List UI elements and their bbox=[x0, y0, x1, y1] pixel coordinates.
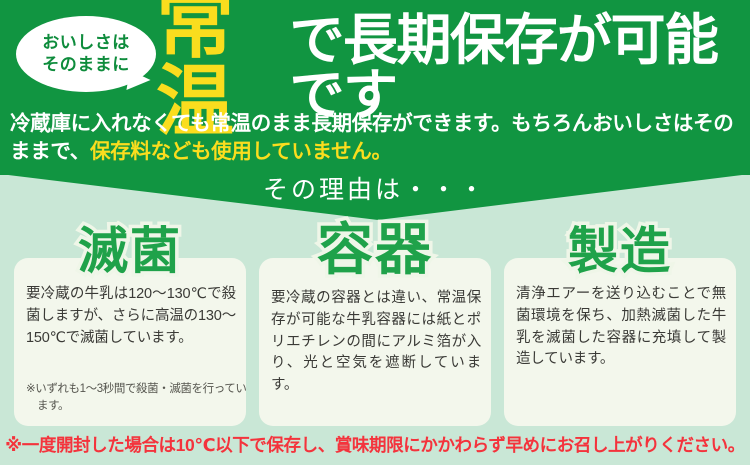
lead-paragraph: 冷蔵庫に入れなくても常温のまま長期保存ができます。もちろんおいしさはそのままで、… bbox=[10, 110, 742, 167]
speech-bubble-tail bbox=[126, 70, 151, 94]
card-heading: 製造 bbox=[504, 226, 736, 276]
reason-card-sterilization: 滅菌 要冷蔵の牛乳は120〜130℃で殺菌しますが、さらに高温の130〜150℃… bbox=[14, 258, 246, 426]
reason-label: その理由は・・・ bbox=[0, 170, 750, 206]
lead-paragraph-highlight: 保存料なども使用していません。 bbox=[90, 140, 392, 163]
headline-rest-text: で長期保存が可能です bbox=[290, 13, 750, 123]
promo-poster: おいしさは そのままに 常温 で長期保存が可能です 冷蔵庫に入れなくても常温のま… bbox=[0, 0, 750, 465]
card-body-text: 要冷蔵の牛乳は120〜130℃で殺菌しますが、さらに高温の130〜150℃で滅菌… bbox=[26, 284, 236, 349]
card-heading: 容器 bbox=[259, 222, 491, 278]
headline: 常温 で長期保存が可能です bbox=[156, 14, 750, 110]
card-body-text: 要冷蔵の容器とは違い、常温保存が可能な牛乳容器には紙とポリエチレンの間にアルミ箔… bbox=[271, 288, 481, 397]
reason-card-manufacturing: 製造 清浄エアーを送り込むことで無菌環境を保ち、加熱滅菌した牛乳を滅菌した容器に… bbox=[504, 258, 736, 426]
card-note-text: ※いずれも1〜3秒間で殺菌・滅菌を行っています。 bbox=[26, 381, 251, 414]
card-heading: 滅菌 bbox=[14, 226, 246, 276]
tagline-line-1: おいしさは bbox=[42, 32, 130, 54]
card-body-text: 清浄エアーを送り込むことで無菌環境を保ち、加熱滅菌した牛乳を滅菌した容器に充填し… bbox=[516, 284, 726, 371]
reason-card-container: 容器 要冷蔵の容器とは違い、常温保存が可能な牛乳容器には紙とポリエチレンの間にア… bbox=[259, 258, 491, 426]
footer-caution-note: ※一度開封した場合は10℃以下で保存し、賞味期限にかかわらず早めにお召し上がりく… bbox=[0, 432, 750, 457]
reason-card-list: 滅菌 要冷蔵の牛乳は120〜130℃で殺菌しますが、さらに高温の130〜150℃… bbox=[14, 258, 736, 426]
tagline-line-2: そのままに bbox=[42, 54, 130, 76]
